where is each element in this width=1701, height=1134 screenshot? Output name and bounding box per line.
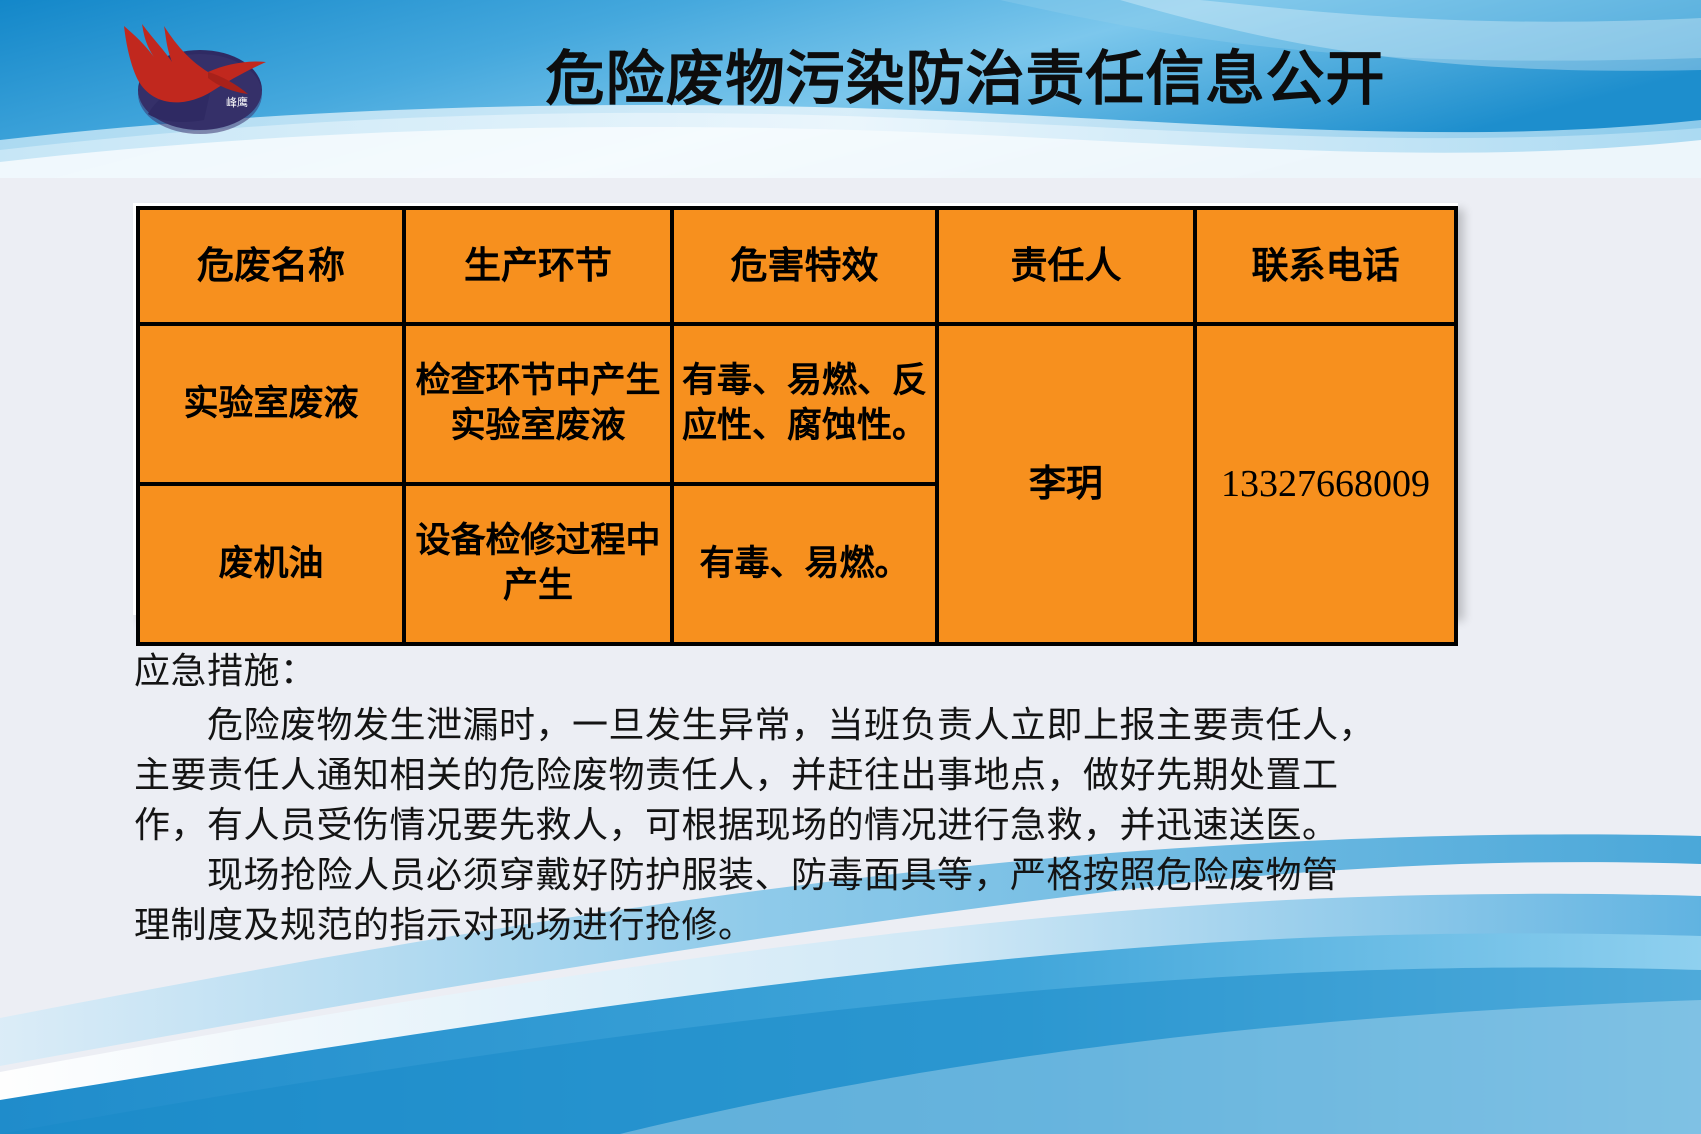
column-header-waste-name: 危废名称 <box>138 208 404 324</box>
emergency-measures-block: 应急措施： 危险废物发生泄漏时，一旦发生异常，当班负责人立即上报主要责任人， 主… <box>134 646 1474 950</box>
measures-line-2: 主要责任人通知相关的危险废物责任人，并赶往出事地点，做好先期处置工 <box>134 750 1474 800</box>
page-title: 危险废物污染防治责任信息公开 <box>0 48 1701 110</box>
measures-heading: 应急措施： <box>134 646 1474 696</box>
slide-canvas: 峰鹰 危险废物污染防治责任信息公开 <box>0 0 1701 1134</box>
cell-waste-name-2: 废机油 <box>138 484 404 644</box>
cell-hazard-1: 有毒、易燃、反应性、腐蚀性。 <box>672 324 937 484</box>
cell-person-merged: 李玥 <box>937 324 1195 644</box>
table-header-row: 危废名称 生产环节 危害特效 责任人 联系电话 <box>138 208 1456 324</box>
cell-process-2: 设备检修过程中产生 <box>404 484 672 644</box>
column-header-person: 责任人 <box>937 208 1195 324</box>
cell-process-1: 检查环节中产生实验室废液 <box>404 324 672 484</box>
measures-line-4: 现场抢险人员必须穿戴好防护服装、防毒面具等，严格按照危险废物管 <box>134 850 1474 900</box>
column-header-hazard: 危害特效 <box>672 208 937 324</box>
column-header-process: 生产环节 <box>404 208 672 324</box>
header-banner: 峰鹰 危险废物污染防治责任信息公开 <box>0 0 1701 178</box>
cell-hazard-2: 有毒、易燃。 <box>672 484 937 644</box>
measures-line-5: 理制度及规范的指示对现场进行抢修。 <box>134 900 1474 950</box>
cell-phone-merged: 13327668009 <box>1195 324 1456 644</box>
cell-waste-name-1: 实验室废液 <box>138 324 404 484</box>
measures-line-3: 作，有人员受伤情况要先救人，可根据现场的情况进行急救，并迅速送医。 <box>134 800 1474 850</box>
hazardous-waste-table: 危废名称 生产环节 危害特效 责任人 联系电话 实验室废液 检查环节中产生实验室… <box>136 206 1458 646</box>
measures-line-1: 危险废物发生泄漏时，一旦发生异常，当班负责人立即上报主要责任人， <box>134 700 1474 750</box>
column-header-phone: 联系电话 <box>1195 208 1456 324</box>
table-row: 实验室废液 检查环节中产生实验室废液 有毒、易燃、反应性、腐蚀性。 李玥 133… <box>138 324 1456 484</box>
